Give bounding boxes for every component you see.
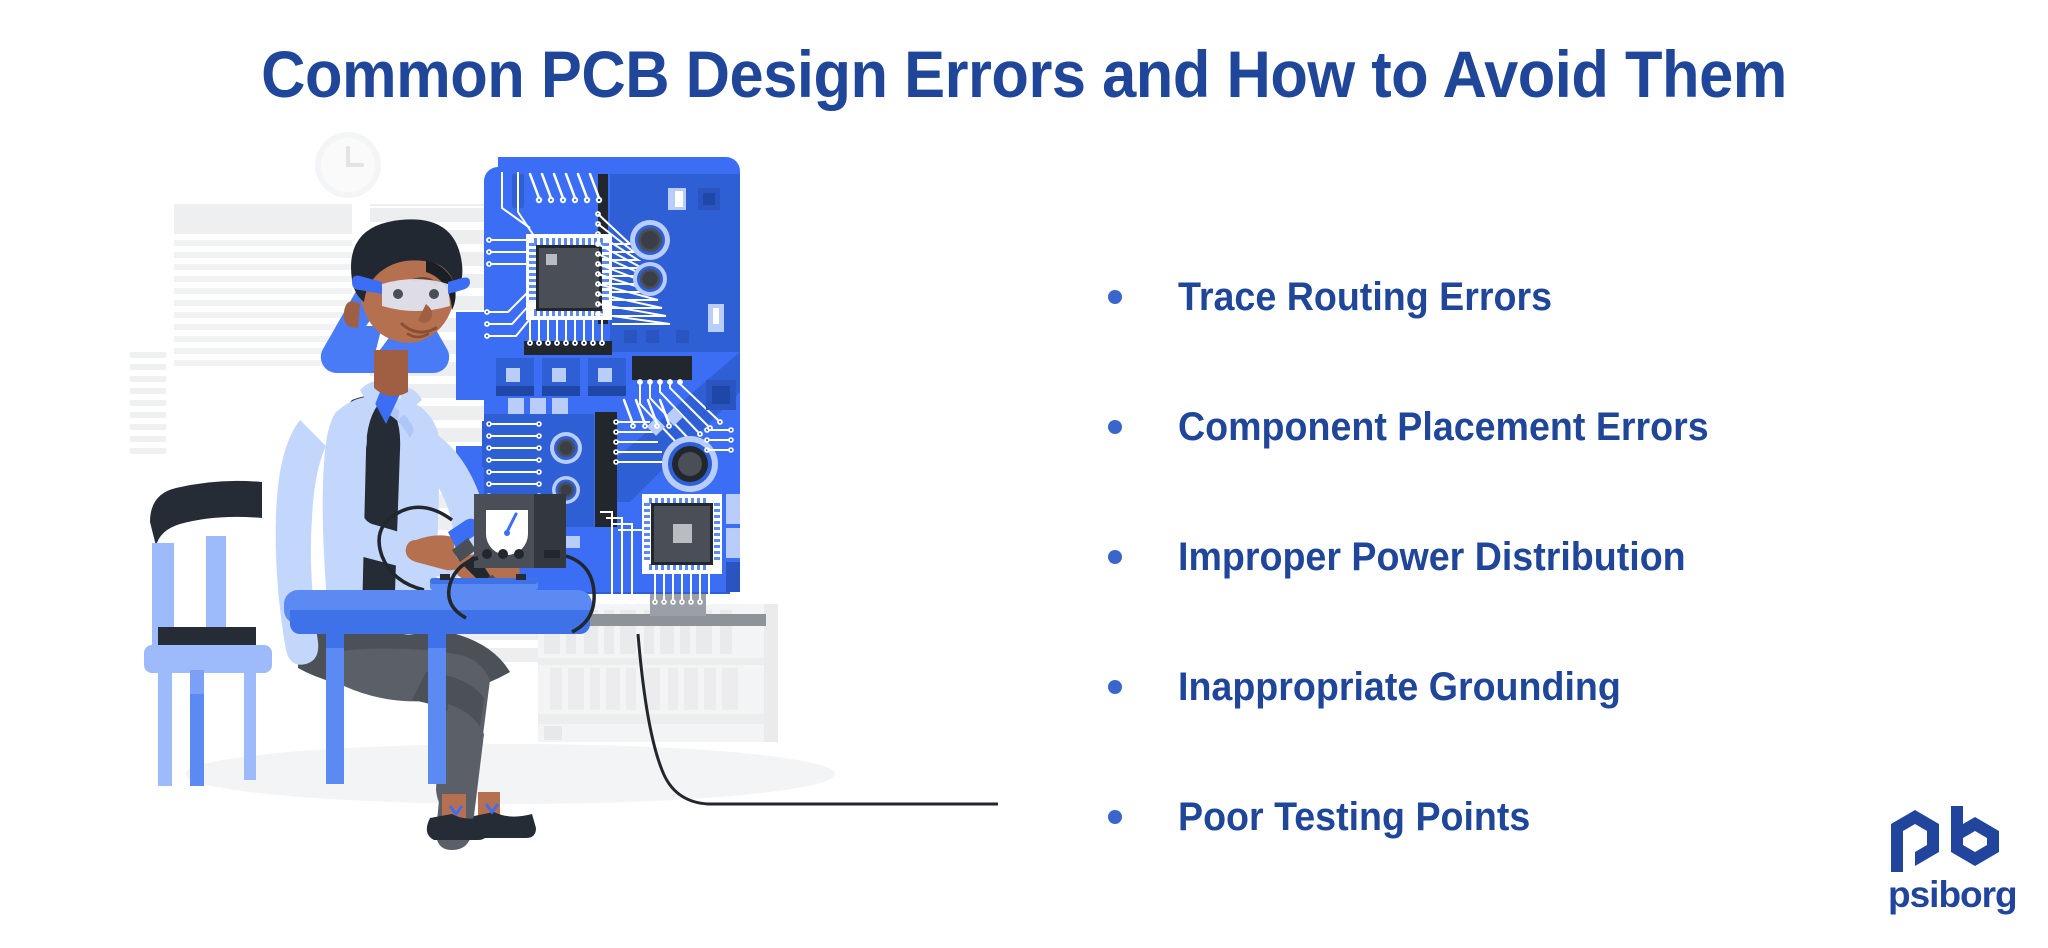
pcb-capacitors [496, 358, 626, 396]
list-item-label: Inappropriate Grounding [1178, 665, 1621, 710]
list-item-label: Improper Power Distribution [1178, 535, 1686, 580]
brand-wordmark: psiborg [1888, 876, 2010, 913]
brand-logo[interactable]: psiborg [1888, 806, 2010, 913]
pcb-large-capacitor [662, 436, 718, 492]
multimeter [474, 494, 566, 568]
infographic-canvas: Common PCB Design Errors and How to Avoi… [0, 0, 2048, 948]
error-list: Trace Routing Errors Component Placement… [1108, 232, 1958, 882]
list-item-label: Trace Routing Errors [1178, 275, 1552, 320]
bullet-dot-icon [1108, 680, 1122, 694]
pcb-secondary-chip [642, 494, 722, 574]
list-item-label: Component Placement Errors [1178, 405, 1709, 450]
list-item[interactable]: Improper Power Distribution [1108, 492, 1958, 622]
bullet-dot-icon [1108, 810, 1122, 824]
pcb-small-pads [508, 398, 568, 414]
list-item[interactable]: Trace Routing Errors [1108, 232, 1958, 362]
page-title: Common PCB Design Errors and How to Avoi… [72, 36, 1977, 112]
chair [144, 481, 272, 786]
wall-clock-icon [315, 132, 381, 198]
list-item[interactable]: Poor Testing Points [1108, 752, 1958, 882]
pcb-main-chip [526, 234, 612, 320]
list-item[interactable]: Component Placement Errors [1108, 362, 1958, 492]
list-item-label: Poor Testing Points [1178, 795, 1530, 840]
bullet-dot-icon [1108, 550, 1122, 564]
window-blinds-far-left [130, 352, 166, 454]
bullet-dot-icon [1108, 420, 1122, 434]
pcb-right-pads [726, 494, 740, 592]
bullet-dot-icon [1108, 290, 1122, 304]
window-blinds-left [174, 204, 352, 366]
list-item[interactable]: Inappropriate Grounding [1108, 622, 1958, 752]
pb-monogram-icon [1888, 806, 2010, 872]
floor-shadow [185, 744, 835, 804]
illustration [130, 112, 1000, 912]
